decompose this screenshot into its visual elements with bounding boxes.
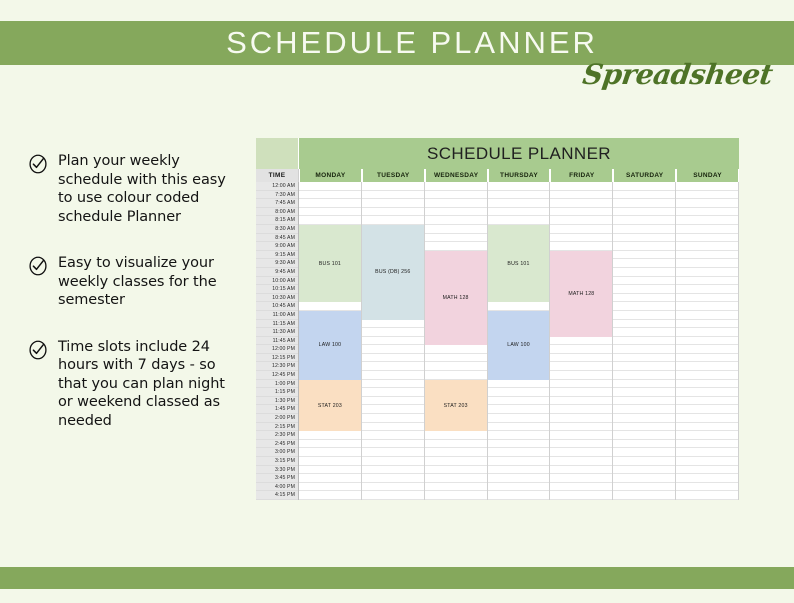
schedule-cell[interactable] <box>550 431 612 440</box>
bullet-text: Easy to visualize your weekly classes fo… <box>58 254 243 310</box>
schedule-cell[interactable] <box>362 208 424 217</box>
sheet-title-row: SCHEDULE PLANNER <box>256 138 739 169</box>
schedule-cell[interactable] <box>488 216 550 225</box>
schedule-cell[interactable] <box>676 337 738 346</box>
column-header-tuesday[interactable]: TUESDAY <box>362 169 425 182</box>
schedule-cell[interactable] <box>425 440 487 449</box>
schedule-cell[interactable] <box>613 483 675 492</box>
time-label: 12:30 PM <box>256 362 298 371</box>
schedule-event-block[interactable]: BUS (DB) 256 <box>362 225 424 320</box>
schedule-grid[interactable]: 12:00 AM7:30 AM7:45 AM8:00 AM8:15 AM8:30… <box>256 182 739 500</box>
schedule-cell[interactable] <box>425 457 487 466</box>
schedule-cell[interactable] <box>550 466 612 475</box>
schedule-cell[interactable] <box>676 268 738 277</box>
schedule-cell[interactable] <box>362 491 424 500</box>
time-label: 2:45 PM <box>256 440 298 449</box>
schedule-cell[interactable] <box>676 182 738 191</box>
schedule-cell[interactable] <box>676 294 738 303</box>
schedule-cell[interactable] <box>676 380 738 389</box>
list-item: Time slots include 24 hours with 7 days … <box>28 338 243 431</box>
schedule-event-block[interactable]: STAT 203 <box>299 380 361 432</box>
schedule-cell[interactable] <box>362 414 424 423</box>
time-label: 8:45 AM <box>256 234 298 243</box>
schedule-cell[interactable] <box>299 191 361 200</box>
schedule-cell[interactable] <box>676 491 738 500</box>
schedule-cell[interactable] <box>550 225 612 234</box>
column-header-sunday[interactable]: SUNDAY <box>676 169 739 182</box>
schedule-cell[interactable] <box>613 302 675 311</box>
schedule-cell[interactable] <box>362 440 424 449</box>
schedule-cell[interactable] <box>613 251 675 260</box>
day-columns[interactable]: BUS 101LAW 100STAT 203BUS (DB) 256MATH 1… <box>299 182 739 500</box>
schedule-cell[interactable] <box>613 431 675 440</box>
time-label: 3:30 PM <box>256 466 298 475</box>
schedule-cell[interactable] <box>613 234 675 243</box>
schedule-cell[interactable] <box>299 474 361 483</box>
schedule-cell[interactable] <box>676 345 738 354</box>
bullet-text: Plan your weekly schedule with this easy… <box>58 152 243 226</box>
schedule-cell[interactable] <box>362 388 424 397</box>
column-header-wednesday[interactable]: WEDNESDAY <box>425 169 488 182</box>
schedule-cell[interactable] <box>613 380 675 389</box>
schedule-cell[interactable] <box>425 345 487 354</box>
schedule-cell[interactable] <box>613 405 675 414</box>
column-header-time: TIME <box>256 169 299 182</box>
schedule-cell[interactable] <box>676 242 738 251</box>
schedule-cell[interactable] <box>613 225 675 234</box>
day-column-monday[interactable]: BUS 101LAW 100STAT 203 <box>299 182 362 500</box>
time-label: 7:45 AM <box>256 199 298 208</box>
time-label: 10:15 AM <box>256 285 298 294</box>
time-label: 1:00 PM <box>256 380 298 389</box>
schedule-cell[interactable] <box>550 337 612 346</box>
schedule-cell[interactable] <box>488 208 550 217</box>
schedule-cell[interactable] <box>488 414 550 423</box>
schedule-cell[interactable] <box>550 191 612 200</box>
schedule-cell[interactable] <box>550 474 612 483</box>
schedule-cell[interactable] <box>676 216 738 225</box>
schedule-cell[interactable] <box>488 388 550 397</box>
schedule-cell[interactable] <box>362 380 424 389</box>
schedule-cell[interactable] <box>676 251 738 260</box>
schedule-cell[interactable] <box>488 405 550 414</box>
time-label: 9:30 AM <box>256 259 298 268</box>
day-column-sunday[interactable] <box>676 182 739 500</box>
time-label: 12:00 AM <box>256 182 298 191</box>
schedule-cell[interactable] <box>362 337 424 346</box>
time-label: 8:15 AM <box>256 216 298 225</box>
schedule-cell[interactable] <box>488 491 550 500</box>
schedule-cell[interactable] <box>362 182 424 191</box>
schedule-cell[interactable] <box>676 191 738 200</box>
schedule-cell[interactable] <box>676 483 738 492</box>
schedule-cell[interactable] <box>425 466 487 475</box>
column-header-friday[interactable]: FRIDAY <box>550 169 613 182</box>
schedule-cell[interactable] <box>550 397 612 406</box>
schedule-cell[interactable] <box>488 380 550 389</box>
column-header-thursday[interactable]: THURSDAY <box>488 169 551 182</box>
schedule-cell[interactable] <box>676 474 738 483</box>
schedule-cell[interactable] <box>425 199 487 208</box>
schedule-cell[interactable] <box>550 448 612 457</box>
time-label: 11:30 AM <box>256 328 298 337</box>
schedule-cell[interactable] <box>488 397 550 406</box>
list-item: Plan your weekly schedule with this easy… <box>28 152 243 226</box>
schedule-cell[interactable] <box>550 371 612 380</box>
schedule-cell[interactable] <box>299 440 361 449</box>
schedule-event-block[interactable]: MATH 128 <box>550 251 612 337</box>
spreadsheet-script-label: Spreadsheet <box>580 58 774 91</box>
page-title: SCHEDULE PLANNER <box>196 25 598 61</box>
schedule-cell[interactable] <box>299 431 361 440</box>
schedule-cell[interactable] <box>676 388 738 397</box>
schedule-cell[interactable] <box>676 285 738 294</box>
schedule-cell[interactable] <box>425 362 487 371</box>
schedule-cell[interactable] <box>362 466 424 475</box>
schedule-cell[interactable] <box>362 423 424 432</box>
schedule-cell[interactable] <box>676 362 738 371</box>
schedule-cell[interactable] <box>299 448 361 457</box>
schedule-cell[interactable] <box>676 199 738 208</box>
schedule-cell[interactable] <box>362 457 424 466</box>
schedule-cell[interactable] <box>613 216 675 225</box>
feature-bullet-list: Plan your weekly schedule with this easy… <box>28 152 243 459</box>
schedule-cell[interactable] <box>425 225 487 234</box>
time-label: 8:00 AM <box>256 208 298 217</box>
time-label: 4:00 PM <box>256 483 298 492</box>
schedule-cell[interactable] <box>676 457 738 466</box>
schedule-cell[interactable] <box>613 474 675 483</box>
time-label: 1:15 PM <box>256 388 298 397</box>
schedule-cell[interactable] <box>550 423 612 432</box>
schedule-cell[interactable] <box>613 388 675 397</box>
time-label: 10:45 AM <box>256 302 298 311</box>
schedule-cell[interactable] <box>613 182 675 191</box>
schedule-cell[interactable] <box>425 491 487 500</box>
schedule-cell[interactable] <box>488 448 550 457</box>
footer-banner <box>0 567 794 589</box>
time-label: 11:15 AM <box>256 320 298 329</box>
schedule-cell[interactable] <box>425 474 487 483</box>
schedule-cell[interactable] <box>613 397 675 406</box>
schedule-cell[interactable] <box>299 302 361 311</box>
schedule-cell[interactable] <box>613 491 675 500</box>
column-header-saturday[interactable]: SATURDAY <box>613 169 676 182</box>
schedule-cell[interactable] <box>613 414 675 423</box>
schedule-cell[interactable] <box>550 362 612 371</box>
day-column-friday[interactable]: MATH 128 <box>550 182 613 500</box>
column-header-monday[interactable]: MONDAY <box>299 169 362 182</box>
schedule-cell[interactable] <box>613 371 675 380</box>
schedule-cell[interactable] <box>613 448 675 457</box>
day-column-tuesday[interactable]: BUS (DB) 256 <box>362 182 425 500</box>
schedule-cell[interactable] <box>676 320 738 329</box>
schedule-cell[interactable] <box>676 423 738 432</box>
time-label: 3:15 PM <box>256 457 298 466</box>
day-column-thursday[interactable]: BUS 101LAW 100 <box>488 182 551 500</box>
schedule-cell[interactable] <box>550 216 612 225</box>
schedule-cell[interactable] <box>613 259 675 268</box>
schedule-cell[interactable] <box>488 191 550 200</box>
schedule-event-block[interactable]: STAT 203 <box>425 380 487 432</box>
schedule-spreadsheet[interactable]: SCHEDULE PLANNER TIME MONDAY TUESDAY WED… <box>256 138 739 500</box>
check-circle-icon <box>28 340 48 360</box>
schedule-cell[interactable] <box>550 388 612 397</box>
schedule-cell[interactable] <box>676 328 738 337</box>
time-label: 12:15 PM <box>256 354 298 363</box>
schedule-cell[interactable] <box>488 182 550 191</box>
schedule-cell[interactable] <box>613 199 675 208</box>
schedule-cell[interactable] <box>299 483 361 492</box>
schedule-cell[interactable] <box>613 328 675 337</box>
schedule-cell[interactable] <box>550 345 612 354</box>
time-label: 4:15 PM <box>256 491 298 500</box>
schedule-event-block[interactable]: BUS 101 <box>299 225 361 302</box>
schedule-cell[interactable] <box>676 466 738 475</box>
schedule-cell[interactable] <box>676 405 738 414</box>
schedule-cell[interactable] <box>613 354 675 363</box>
schedule-cell[interactable] <box>425 354 487 363</box>
day-column-wednesday[interactable]: MATH 128STAT 203 <box>425 182 488 500</box>
day-column-saturday[interactable] <box>613 182 676 500</box>
schedule-cell[interactable] <box>676 234 738 243</box>
schedule-cell[interactable] <box>550 491 612 500</box>
schedule-cell[interactable] <box>425 448 487 457</box>
schedule-cell[interactable] <box>676 311 738 320</box>
schedule-event-block[interactable]: MATH 128 <box>425 251 487 346</box>
schedule-cell[interactable] <box>550 242 612 251</box>
schedule-cell[interactable] <box>676 440 738 449</box>
schedule-cell[interactable] <box>362 345 424 354</box>
time-label: 10:00 AM <box>256 277 298 286</box>
schedule-cell[interactable] <box>362 354 424 363</box>
schedule-cell[interactable] <box>550 440 612 449</box>
schedule-cell[interactable] <box>488 457 550 466</box>
schedule-cell[interactable] <box>613 320 675 329</box>
schedule-cell[interactable] <box>425 208 487 217</box>
schedule-cell[interactable] <box>676 431 738 440</box>
schedule-cell[interactable] <box>362 397 424 406</box>
check-circle-icon <box>28 154 48 174</box>
schedule-cell[interactable] <box>362 448 424 457</box>
bullet-text: Time slots include 24 hours with 7 days … <box>58 338 243 431</box>
sheet-header-row: TIME MONDAY TUESDAY WEDNESDAY THURSDAY F… <box>256 169 739 182</box>
check-circle-icon <box>28 256 48 276</box>
schedule-cell[interactable] <box>676 277 738 286</box>
time-label: 9:15 AM <box>256 251 298 260</box>
schedule-cell[interactable] <box>299 491 361 500</box>
schedule-event-block[interactable]: BUS 101 <box>488 225 550 302</box>
time-label: 11:45 AM <box>256 337 298 346</box>
schedule-cell[interactable] <box>676 208 738 217</box>
schedule-cell[interactable] <box>676 448 738 457</box>
time-label: 11:00 AM <box>256 311 298 320</box>
schedule-cell[interactable] <box>613 242 675 251</box>
time-label: 7:30 AM <box>256 191 298 200</box>
schedule-cell[interactable] <box>550 380 612 389</box>
time-label: 2:30 PM <box>256 431 298 440</box>
time-label: 8:30 AM <box>256 225 298 234</box>
schedule-cell[interactable] <box>550 234 612 243</box>
time-label: 2:00 PM <box>256 414 298 423</box>
schedule-cell[interactable] <box>613 337 675 346</box>
time-label: 9:45 AM <box>256 268 298 277</box>
schedule-cell[interactable] <box>362 483 424 492</box>
schedule-event-block[interactable]: LAW 100 <box>299 311 361 380</box>
schedule-cell[interactable] <box>613 311 675 320</box>
schedule-cell[interactable] <box>613 268 675 277</box>
schedule-cell[interactable] <box>613 457 675 466</box>
time-label: 2:15 PM <box>256 423 298 432</box>
schedule-cell[interactable] <box>550 414 612 423</box>
schedule-cell[interactable] <box>676 302 738 311</box>
schedule-cell[interactable] <box>676 414 738 423</box>
schedule-cell[interactable] <box>550 457 612 466</box>
schedule-cell[interactable] <box>550 208 612 217</box>
schedule-cell[interactable] <box>488 423 550 432</box>
schedule-cell[interactable] <box>676 397 738 406</box>
schedule-cell[interactable] <box>425 182 487 191</box>
schedule-cell[interactable] <box>550 354 612 363</box>
sheet-corner-cell <box>256 138 299 169</box>
schedule-cell[interactable] <box>676 225 738 234</box>
schedule-cell[interactable] <box>362 191 424 200</box>
schedule-cell[interactable] <box>613 191 675 200</box>
schedule-cell[interactable] <box>362 431 424 440</box>
schedule-cell[interactable] <box>362 405 424 414</box>
schedule-cell[interactable] <box>613 277 675 286</box>
schedule-cell[interactable] <box>425 242 487 251</box>
schedule-cell[interactable] <box>425 216 487 225</box>
schedule-cell[interactable] <box>299 466 361 475</box>
schedule-cell[interactable] <box>362 474 424 483</box>
schedule-cell[interactable] <box>613 345 675 354</box>
schedule-cell[interactable] <box>613 362 675 371</box>
schedule-cell[interactable] <box>488 199 550 208</box>
schedule-cell[interactable] <box>362 199 424 208</box>
schedule-cell[interactable] <box>613 440 675 449</box>
schedule-cell[interactable] <box>488 440 550 449</box>
schedule-cell[interactable] <box>299 216 361 225</box>
schedule-cell[interactable] <box>550 483 612 492</box>
schedule-cell[interactable] <box>299 182 361 191</box>
schedule-cell[interactable] <box>613 423 675 432</box>
time-label: 9:00 AM <box>256 242 298 251</box>
time-label: 3:00 PM <box>256 448 298 457</box>
schedule-cell[interactable] <box>613 466 675 475</box>
schedule-cell[interactable] <box>425 234 487 243</box>
sheet-title: SCHEDULE PLANNER <box>299 138 739 169</box>
schedule-cell[interactable] <box>299 199 361 208</box>
schedule-cell[interactable] <box>613 208 675 217</box>
schedule-cell[interactable] <box>488 302 550 311</box>
time-label: 12:45 PM <box>256 371 298 380</box>
schedule-cell[interactable] <box>488 431 550 440</box>
schedule-cell[interactable] <box>362 362 424 371</box>
time-label: 3:45 PM <box>256 474 298 483</box>
schedule-cell[interactable] <box>613 294 675 303</box>
schedule-cell[interactable] <box>299 457 361 466</box>
schedule-cell[interactable] <box>425 371 487 380</box>
schedule-cell[interactable] <box>362 216 424 225</box>
schedule-cell[interactable] <box>550 182 612 191</box>
list-item: Easy to visualize your weekly classes fo… <box>28 254 243 310</box>
time-label: 1:30 PM <box>256 397 298 406</box>
schedule-cell[interactable] <box>488 483 550 492</box>
schedule-cell[interactable] <box>299 208 361 217</box>
schedule-cell[interactable] <box>550 199 612 208</box>
schedule-cell[interactable] <box>362 371 424 380</box>
schedule-cell[interactable] <box>425 483 487 492</box>
schedule-cell[interactable] <box>425 431 487 440</box>
schedule-cell[interactable] <box>425 191 487 200</box>
schedule-cell[interactable] <box>676 371 738 380</box>
schedule-cell[interactable] <box>676 259 738 268</box>
schedule-cell[interactable] <box>488 466 550 475</box>
time-label: 10:30 AM <box>256 294 298 303</box>
schedule-cell[interactable] <box>550 405 612 414</box>
time-label: 1:45 PM <box>256 405 298 414</box>
schedule-cell[interactable] <box>488 474 550 483</box>
schedule-cell[interactable] <box>362 320 424 329</box>
time-label: 12:00 PM <box>256 345 298 354</box>
time-column: 12:00 AM7:30 AM7:45 AM8:00 AM8:15 AM8:30… <box>256 182 299 500</box>
schedule-event-block[interactable]: LAW 100 <box>488 311 550 380</box>
schedule-cell[interactable] <box>676 354 738 363</box>
schedule-cell[interactable] <box>362 328 424 337</box>
schedule-cell[interactable] <box>613 285 675 294</box>
